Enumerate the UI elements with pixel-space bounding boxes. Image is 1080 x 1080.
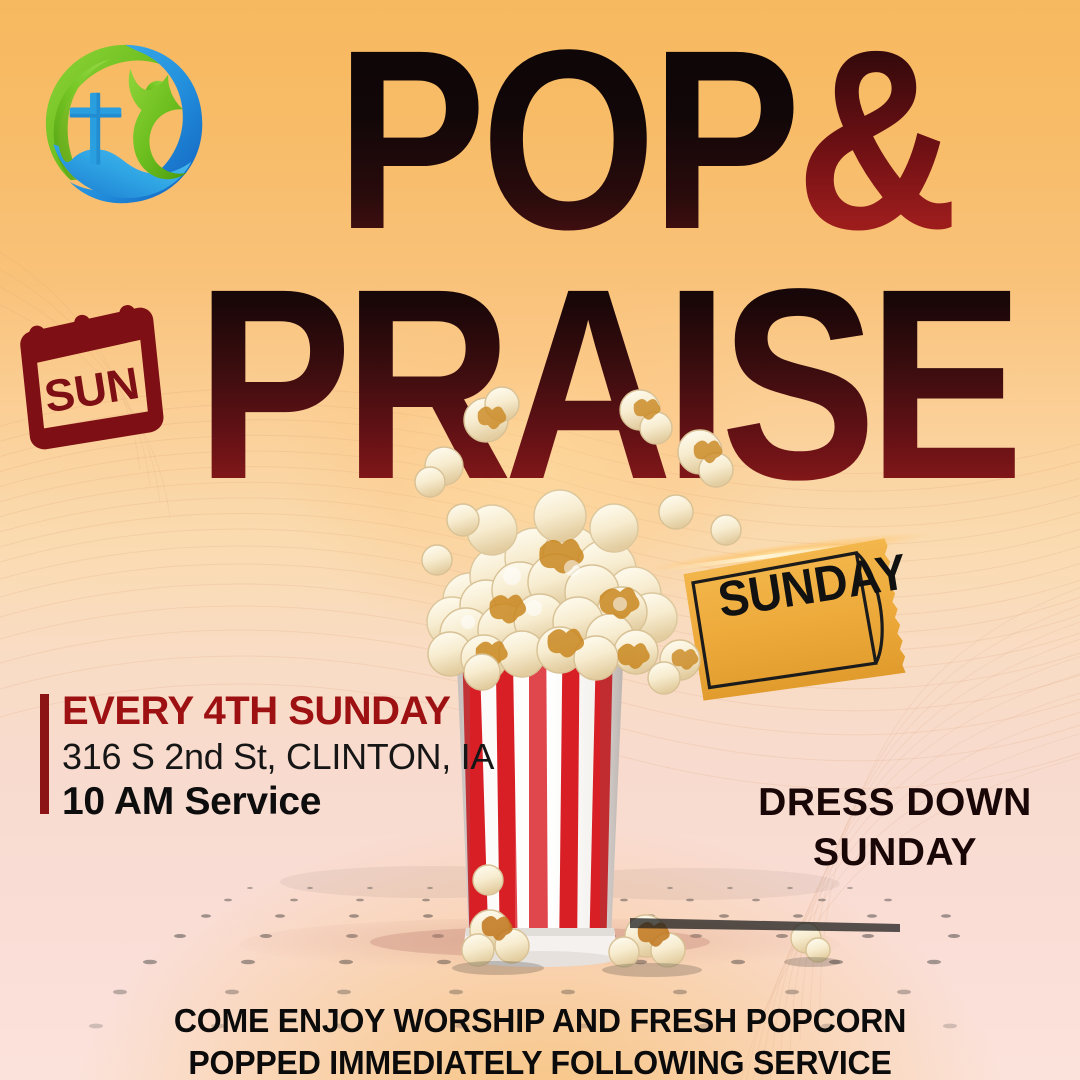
popcorn-mound <box>427 490 677 681</box>
headline-ampersand: & <box>796 0 953 283</box>
church-logo <box>33 32 217 216</box>
calendar-sun-icon: SUN <box>11 298 175 458</box>
calendar-day-label: SUN <box>41 357 143 422</box>
headline-line-praise: PRAISE <box>196 248 1015 520</box>
poster-canvas: SUN POP& PRAISE SUNDAY <box>0 0 1080 1080</box>
headline-pop-text: POP <box>336 0 796 283</box>
event-details: EVERY 4TH SUNDAY 316 S 2nd St, CLINTON, … <box>40 690 494 823</box>
floor-popcorn <box>452 910 900 977</box>
event-frequency: EVERY 4TH SUNDAY <box>62 690 494 733</box>
event-time: 10 AM Service <box>62 780 494 824</box>
dress-down-line2: SUNDAY <box>735 828 1055 878</box>
event-address: 316 S 2nd St, CLINTON, IA <box>62 736 494 778</box>
dress-down-note: DRESS DOWN SUNDAY <box>735 778 1055 878</box>
dress-down-line1: DRESS DOWN <box>735 778 1055 828</box>
footer-line1: COME ENJOY WORSHIP AND FRESH POPCORN <box>16 1000 1064 1042</box>
headline-line-pop: POP& <box>336 12 953 268</box>
footer-message: COME ENJOY WORSHIP AND FRESH POPCORN POP… <box>0 1000 1080 1080</box>
footer-line2: POPPED IMMEDIATELY FOLLOWING SERVICE <box>16 1042 1064 1080</box>
